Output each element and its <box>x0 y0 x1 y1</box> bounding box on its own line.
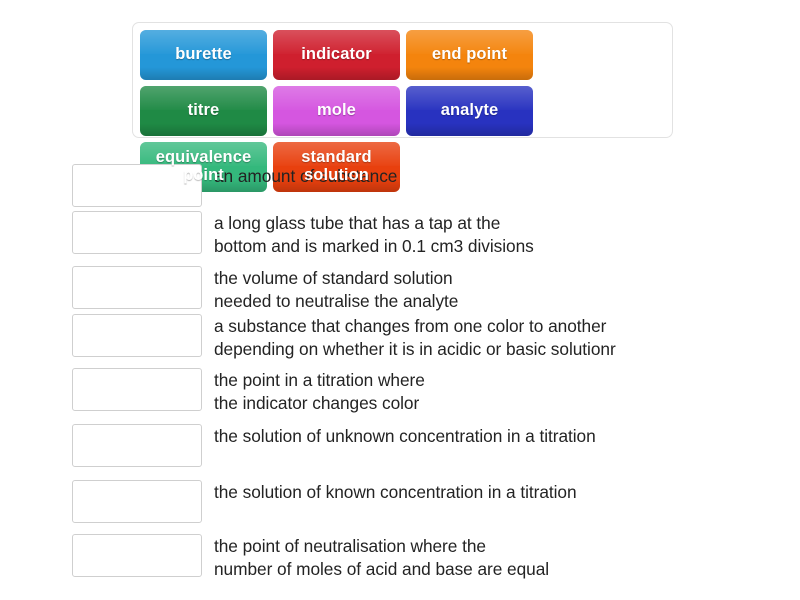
word-tile[interactable]: mole <box>273 86 400 136</box>
answer-dropzone[interactable] <box>72 211 202 254</box>
match-up-row: an amount of substance <box>0 164 800 207</box>
word-tile[interactable]: burette <box>140 30 267 80</box>
answer-dropzone[interactable] <box>72 266 202 309</box>
match-up-row: the solution of known concentration in a… <box>0 480 800 523</box>
word-tile[interactable]: indicator <box>273 30 400 80</box>
answer-dropzone[interactable] <box>72 424 202 467</box>
word-tile-label: titre <box>188 102 220 120</box>
answer-dropzone[interactable] <box>72 368 202 411</box>
word-tile-label: indicator <box>301 46 372 64</box>
answer-dropzone[interactable] <box>72 314 202 357</box>
word-tile[interactable]: equivalence point <box>140 142 267 192</box>
definition-text: a long glass tube that has a tap at the … <box>214 211 534 258</box>
match-up-row: a substance that changes from one color … <box>0 314 800 361</box>
definition-text: the volume of standard solution needed t… <box>214 266 458 313</box>
word-tile-label: burette <box>175 46 232 64</box>
match-up-row: the solution of unknown concentration in… <box>0 424 800 467</box>
definition-text: a substance that changes from one color … <box>214 314 616 361</box>
match-up-row: the point in a titration where the indic… <box>0 368 800 415</box>
word-tile[interactable]: end point <box>406 30 533 80</box>
word-tile-label: end point <box>432 46 507 64</box>
definition-text: the solution of known concentration in a… <box>214 480 577 504</box>
word-tile-label: equivalence point <box>156 149 252 185</box>
word-tile[interactable]: titre <box>140 86 267 136</box>
match-up-row: the volume of standard solution needed t… <box>0 266 800 313</box>
definition-text: the point in a titration where the indic… <box>214 368 425 415</box>
word-bank: buretteindicatorend pointtitremoleanalyt… <box>132 22 673 138</box>
answer-dropzone[interactable] <box>72 480 202 523</box>
definition-text: the point of neutralisation where the nu… <box>214 534 549 581</box>
definition-text: the solution of unknown concentration in… <box>214 424 596 448</box>
activity-canvas: buretteindicatorend pointtitremoleanalyt… <box>0 0 800 600</box>
match-up-row: the point of neutralisation where the nu… <box>0 534 800 581</box>
word-tile-label: standard solution <box>301 149 371 185</box>
word-tile-label: analyte <box>441 102 499 120</box>
word-tile-label: mole <box>317 102 356 120</box>
word-tile[interactable]: analyte <box>406 86 533 136</box>
match-up-row: a long glass tube that has a tap at the … <box>0 211 800 258</box>
answer-dropzone[interactable] <box>72 534 202 577</box>
